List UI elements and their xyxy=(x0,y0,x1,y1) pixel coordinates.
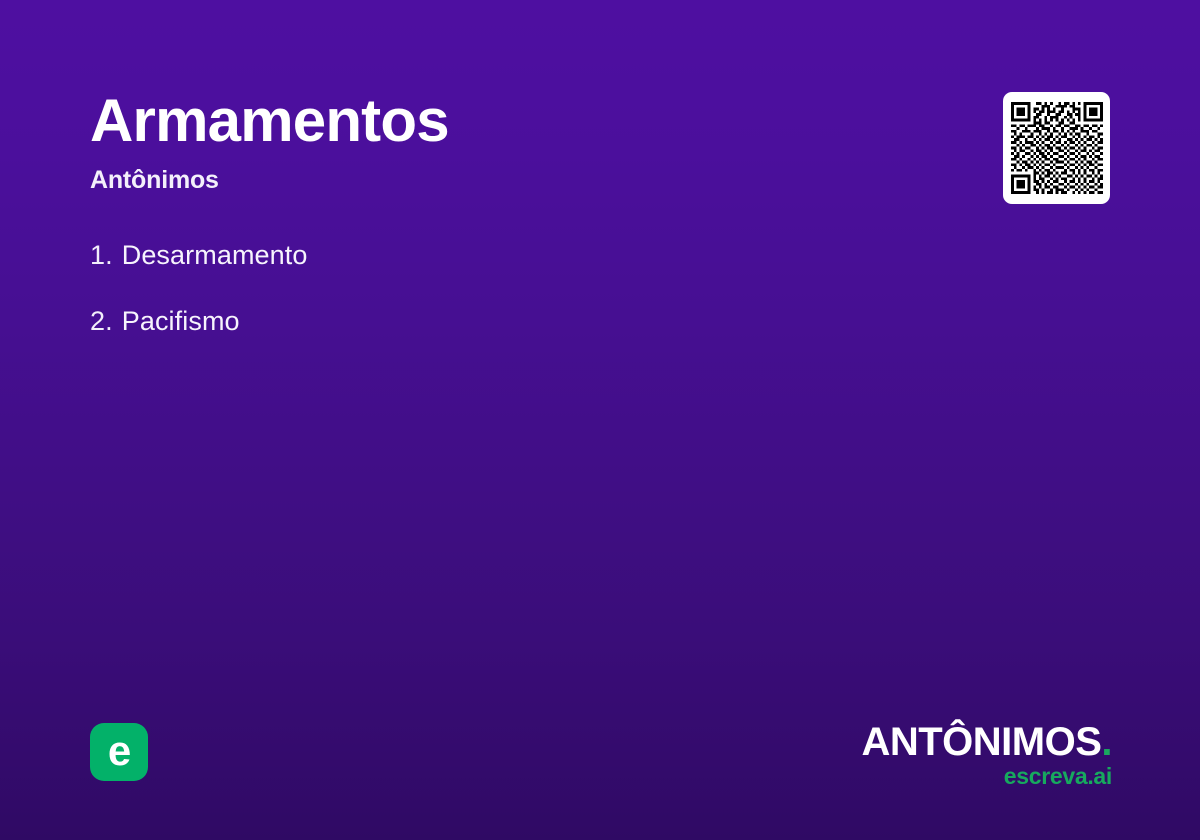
page-subtitle: Antônimos xyxy=(90,165,910,195)
brand-wordmark-main: ANTÔNIMOS. xyxy=(861,722,1112,762)
brand-wordmark: ANTÔNIMOS. escreva.ai xyxy=(861,722,1112,789)
brand-wordmark-dot: . xyxy=(1101,720,1112,764)
page-title: Armamentos xyxy=(90,88,910,154)
brand-logo-escreva[interactable]: e xyxy=(90,723,148,781)
list-item-index: 1. xyxy=(90,238,113,272)
list-item: 1. Desarmamento xyxy=(90,238,910,272)
header-block: Armamentos Antônimos xyxy=(90,88,910,195)
brand-wordmark-sub: escreva.ai xyxy=(861,764,1112,789)
qr-code-panel[interactable] xyxy=(1003,92,1110,204)
list-item: 2. Pacifismo xyxy=(90,304,910,338)
list-item-word: Desarmamento xyxy=(122,238,308,272)
brand-logo-letter: e xyxy=(90,723,148,781)
antonyms-list: 1. Desarmamento 2. Pacifismo xyxy=(90,238,910,370)
list-item-index: 2. xyxy=(90,304,113,338)
brand-wordmark-main-text: ANTÔNIMOS xyxy=(861,720,1101,764)
qr-code-icon[interactable] xyxy=(1011,102,1103,194)
antonym-card: Armamentos Antônimos 1. Desarmamento 2. … xyxy=(0,0,1200,840)
list-item-word: Pacifismo xyxy=(122,304,240,338)
